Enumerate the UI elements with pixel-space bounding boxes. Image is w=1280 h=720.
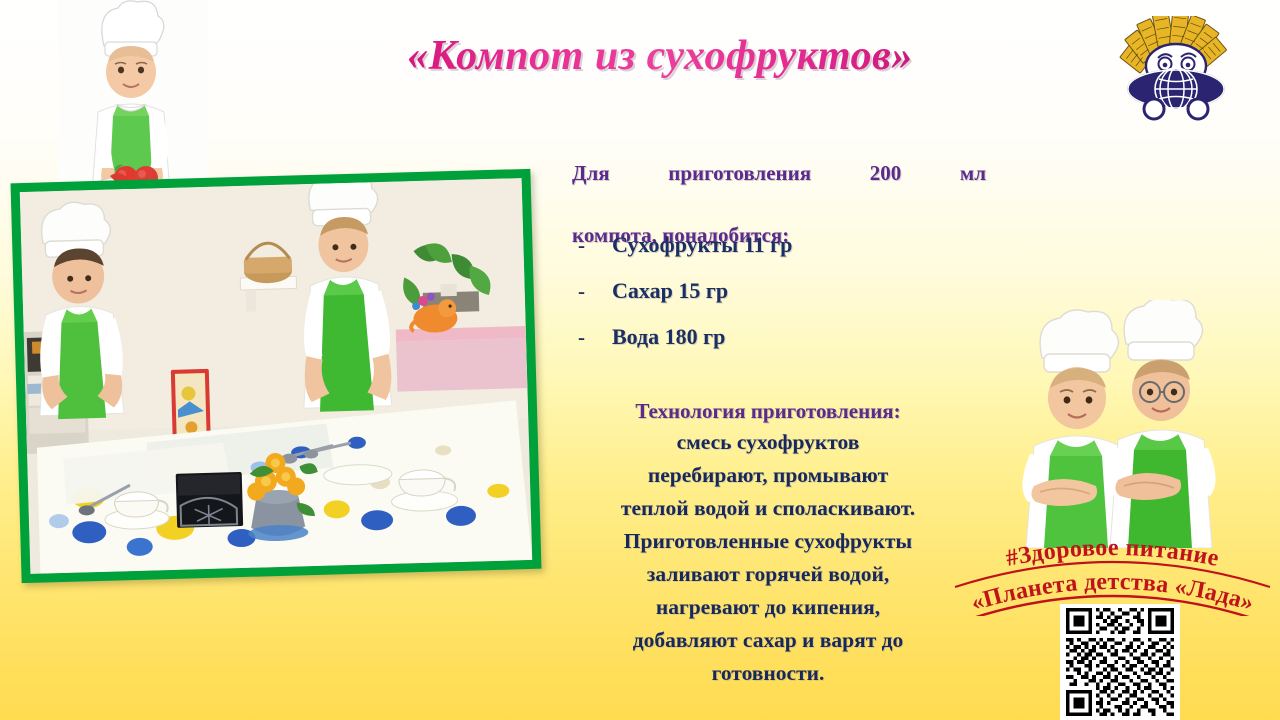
bullet-dash-icon: - bbox=[572, 233, 612, 258]
planeta-detstva-lada-logo bbox=[1118, 16, 1234, 128]
page-title: «Компот из сухофруктов» bbox=[320, 24, 1000, 88]
list-item: - Вода 180 гр bbox=[572, 324, 992, 370]
technology-line: Приготовленные сухофрукты bbox=[568, 525, 968, 558]
branding-arch: #Здоровое питание «Планета детства «Лада… bbox=[945, 524, 1280, 616]
bullet-dash-icon: - bbox=[572, 325, 612, 350]
bullet-dash-icon: - bbox=[572, 279, 612, 304]
technology-line: смесь сухофруктов bbox=[568, 426, 968, 459]
ingredients-list: - Сухофрукты 11 гр - Сахар 15 гр - Вода … bbox=[572, 232, 992, 370]
technology-line: перебирают, промывают bbox=[568, 459, 968, 492]
technology-line: теплой водой и споласкивают. bbox=[568, 492, 968, 525]
ingredient-label: Сахар 15 гр bbox=[612, 278, 728, 304]
technology-heading: Технология приготовления: bbox=[568, 396, 968, 426]
technology-block: Технология приготовления: смесь сухофрук… bbox=[568, 396, 968, 690]
ingredient-label: Вода 180 гр bbox=[612, 324, 725, 350]
list-item: - Сахар 15 гр bbox=[572, 278, 992, 324]
photo-two-children-cooking bbox=[20, 178, 532, 574]
technology-line: готовности. bbox=[568, 657, 968, 690]
technology-body: смесь сухофруктов перебирают, промывают … bbox=[568, 426, 968, 690]
photo-main-frame bbox=[11, 169, 542, 583]
svg-text:#Здоровое питание: #Здоровое питание bbox=[1004, 535, 1222, 572]
ingredient-label: Сухофрукты 11 гр bbox=[612, 232, 792, 258]
technology-line: заливают горячей водой, bbox=[568, 558, 968, 591]
photo-two-children-arms-crossed bbox=[1000, 300, 1230, 548]
qr-code[interactable] bbox=[1060, 604, 1180, 720]
ingredients-heading-line1: Для приготовления 200 мл bbox=[572, 158, 986, 220]
list-item: - Сухофрукты 11 гр bbox=[572, 232, 992, 278]
technology-line: нагревают до кипения, bbox=[568, 591, 968, 624]
technology-line: добавляют сахар и варят до bbox=[568, 624, 968, 657]
branding-hashtag: #Здоровое питание bbox=[1004, 535, 1222, 572]
